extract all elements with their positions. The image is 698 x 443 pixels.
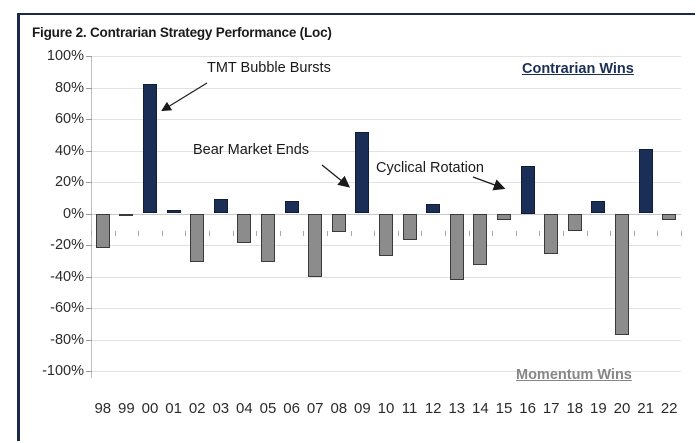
y-axis-tick [86,277,92,278]
y-axis-tick [86,151,92,152]
y-axis-tick [86,88,92,89]
y-axis-tick [86,56,92,57]
y-axis-tick [86,214,92,215]
y-axis-tick [86,119,92,120]
arrow-tmt-icon [0,0,698,443]
y-axis-tick [86,308,92,309]
y-axis-tick [86,340,92,341]
y-axis-tick [86,371,92,372]
y-axis-tick [86,245,92,246]
y-axis-tick [86,182,92,183]
